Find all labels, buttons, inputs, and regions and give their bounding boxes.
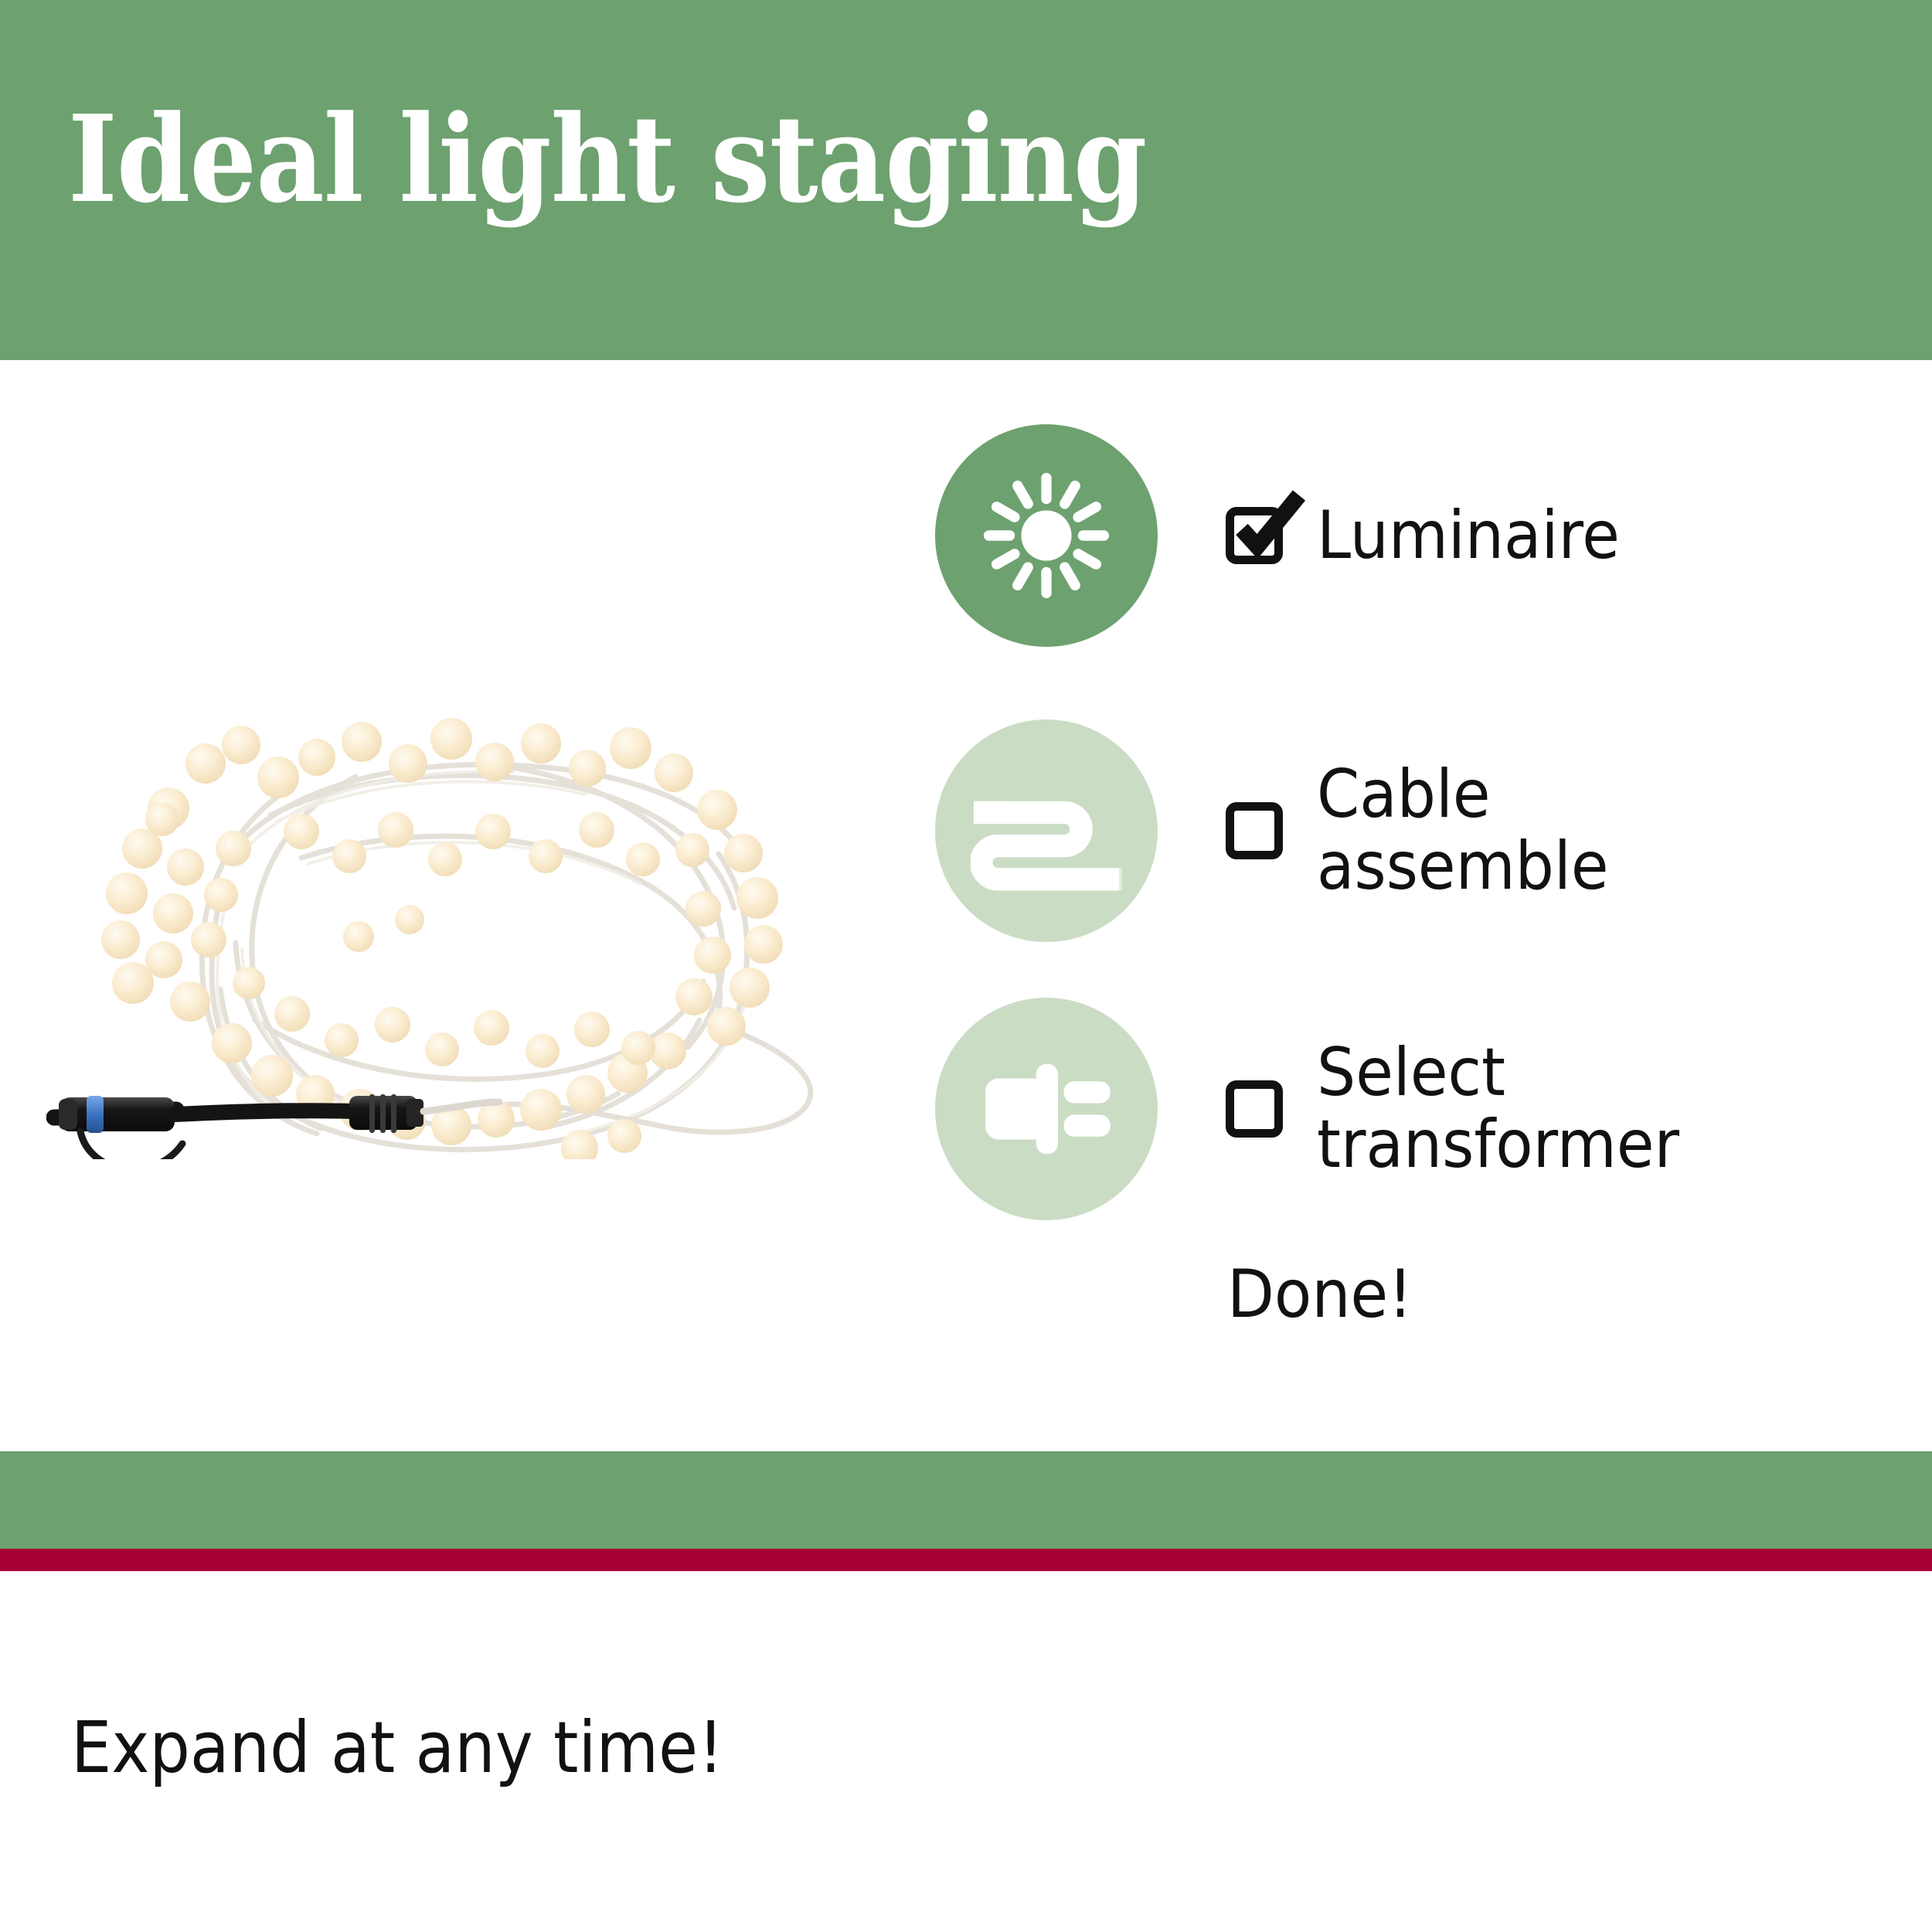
cable-icon [971,755,1122,906]
checklist-label-select-transformer: Select transformer [1317,1037,1883,1181]
checklist-item-select-transformer[interactable]: Select transformer [935,997,1932,1221]
plug-icon-circle [935,998,1158,1220]
checkbox-luminaire[interactable] [1226,507,1283,564]
sun-icon-circle [935,424,1158,647]
footer-note: Expand at any time! [71,1713,723,1784]
checkbox-select-transformer[interactable] [1226,1080,1283,1138]
checklist-label-luminaire: Luminaire [1317,500,1883,572]
cable-icon-circle [935,719,1158,942]
product-image [46,665,912,1159]
done-label: Done! [1227,1261,1413,1328]
footer-green-band [0,1451,1932,1549]
checklist-label-cable-assemble: Cable assemble [1317,759,1883,903]
checklist: Luminaire Cable assemble [935,423,1932,1413]
checkbox-cable-assemble[interactable] [1226,802,1283,859]
checkmark-icon [1225,478,1316,570]
checklist-item-cable-assemble[interactable]: Cable assemble [935,719,1932,943]
sun-icon [975,464,1118,607]
checklist-item-luminaire[interactable]: Luminaire [935,423,1932,648]
plug-icon [974,1036,1119,1182]
footer-red-band [0,1549,1932,1571]
page-title: Ideal light staging [68,99,1147,219]
